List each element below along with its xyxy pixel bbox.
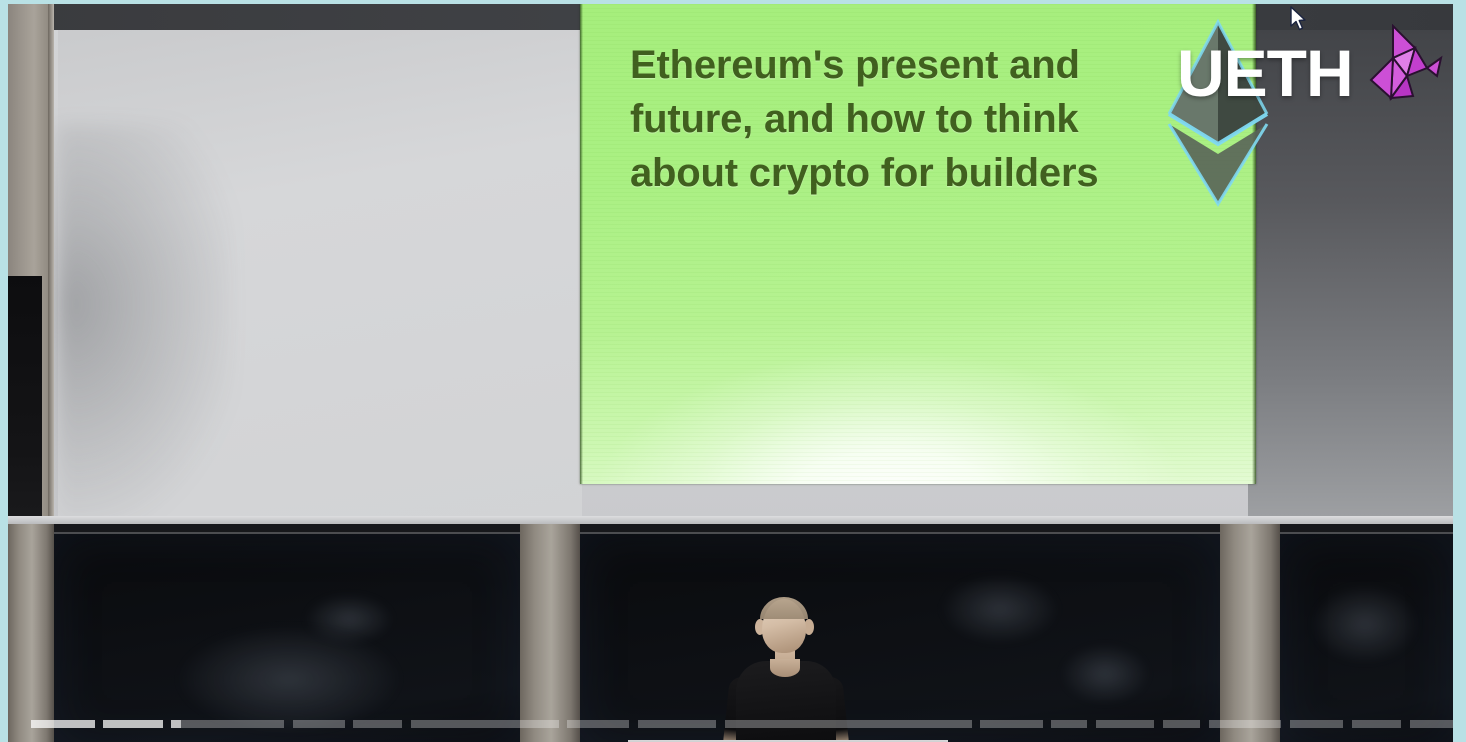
speaker-hair — [760, 597, 808, 619]
chapter-segment[interactable] — [1051, 720, 1087, 728]
lower-pillar-right — [1220, 524, 1280, 742]
wall-shadow — [56, 124, 231, 524]
chalkboard-left — [54, 532, 520, 742]
speaker-collar — [770, 659, 800, 677]
chapter-segment[interactable] — [1352, 720, 1401, 728]
chapter-segment[interactable] — [567, 720, 629, 728]
slide-edge-left — [580, 4, 583, 484]
chapter-segment[interactable] — [980, 720, 1042, 728]
lower-pillar-left — [8, 524, 54, 742]
video-viewport[interactable]: Ethereum's present and future, and how t… — [8, 4, 1453, 742]
chalk-smudge — [304, 594, 394, 644]
chapter-segment[interactable] — [1209, 720, 1281, 728]
chapter-segment[interactable] — [31, 720, 95, 728]
lower-chalkboard-zone — [8, 524, 1453, 742]
buffered-fill — [31, 720, 95, 728]
lower-pillar-center — [520, 524, 580, 742]
chapter-segment[interactable] — [171, 720, 284, 728]
ueth-brand-overlay: UETH — [1163, 12, 1443, 202]
chapter-segment[interactable] — [1096, 720, 1154, 728]
presentation-slide: Ethereum's present and future, and how t… — [580, 4, 1256, 484]
slide-title: Ethereum's present and future, and how t… — [630, 38, 1150, 200]
video-progress-bar[interactable] — [8, 720, 1453, 728]
chapter-segment[interactable] — [725, 720, 972, 728]
chalkboard-center — [580, 532, 1220, 742]
chapter-segment[interactable] — [1163, 720, 1201, 728]
chapter-segment[interactable] — [103, 720, 162, 728]
chapter-segment[interactable] — [411, 720, 558, 728]
chalkboard-right — [1280, 532, 1453, 742]
video-player[interactable]: Ethereum's present and future, and how t… — [0, 0, 1466, 742]
chapter-segment[interactable] — [1410, 720, 1453, 728]
chapter-segment[interactable] — [293, 720, 345, 728]
chapter-segment[interactable] — [638, 720, 716, 728]
player-border-top — [0, 0, 1466, 4]
player-border-left — [0, 0, 8, 742]
player-border-right — [1453, 0, 1466, 742]
lecture-hall-scene: Ethereum's present and future, and how t… — [8, 4, 1453, 742]
origami-bird-icon — [1363, 24, 1447, 116]
chalk-smudge — [1060, 644, 1150, 704]
buffered-fill — [103, 720, 162, 728]
chalk-smudge — [1310, 584, 1420, 664]
ueth-brand-text: UETH — [1177, 40, 1353, 106]
left-pillar-edge — [48, 4, 54, 524]
chapter-segment[interactable] — [1290, 720, 1343, 728]
buffered-fill — [171, 720, 181, 728]
chalk-smudge — [940, 574, 1060, 644]
left-pillar-dark-panel — [8, 276, 42, 524]
chapter-segment[interactable] — [353, 720, 402, 728]
